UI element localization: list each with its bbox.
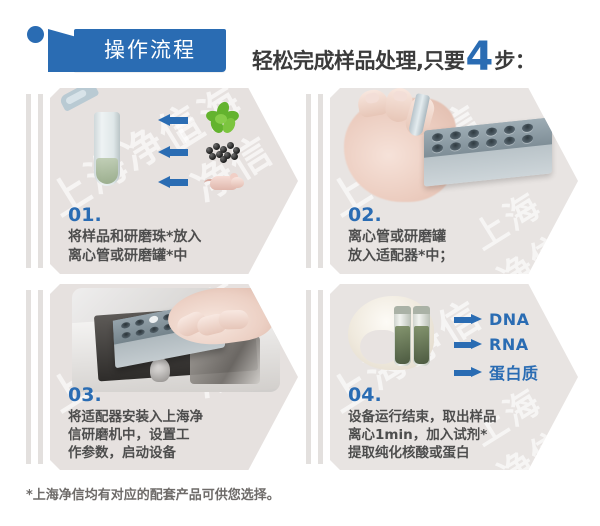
- left-arrow-icon: [158, 176, 188, 188]
- centrifuge-tube-illustration: [58, 94, 288, 202]
- step-description-line: 离心管或研磨罐: [348, 228, 563, 247]
- step-description-line: 将适配器安装入上海净: [68, 408, 283, 426]
- card-stripe-outer: [306, 94, 311, 268]
- output-row-dna: DNA: [454, 310, 530, 329]
- step-description-line: 离心管或研磨罐*中: [68, 247, 283, 266]
- footer-note: *上海净信均有对应的配套产品可供您选择。: [26, 484, 280, 503]
- headline-step-count: 4: [464, 40, 494, 74]
- card-stripe-inner: [38, 94, 43, 268]
- card-text-block: 04. 设备运行结束，取出样品 离心1min，加入试剂* 提取纯化核酸或蛋白: [348, 385, 563, 462]
- right-arrow-icon: [454, 367, 482, 378]
- step-number: 01.: [68, 205, 283, 226]
- card-stripe-inner: [318, 290, 323, 464]
- output-label: RNA: [489, 335, 529, 354]
- output-row-protein: 蛋白质: [454, 360, 539, 384]
- card-panel: 上海净信 上海净信: [50, 284, 298, 470]
- card-stripe-outer: [26, 94, 31, 268]
- card-stripe-outer: [26, 290, 31, 464]
- step-description-line: 信研磨机中，设置工: [68, 426, 283, 444]
- output-row-rna: RNA: [454, 335, 529, 354]
- step-card-3: 上海净信 上海净信: [26, 284, 298, 470]
- step-number: 04.: [348, 385, 563, 406]
- mouse-animal-icon: [204, 170, 246, 192]
- card-stripe-inner: [38, 290, 43, 464]
- grinding-beads-icon: [204, 140, 244, 162]
- machine-shaft: [150, 358, 170, 382]
- step-description-line: 离心1min，加入试剂*: [348, 426, 563, 444]
- step-description-line: 提取纯化核酸或蛋白: [348, 444, 563, 462]
- card-panel: 上海净信 上海净信 DNA RNA: [330, 284, 578, 470]
- step-number: 02.: [348, 205, 563, 226]
- plant-leaf-icon: [206, 104, 240, 134]
- step-description-line: 作参数，启动设备: [68, 444, 283, 462]
- sample-vial-icon: [413, 306, 430, 366]
- step-number: 03.: [68, 385, 283, 406]
- step-card-4: 上海净信 上海净信 DNA RNA: [306, 284, 578, 470]
- card-stripe-inner: [318, 94, 323, 268]
- left-arrow-icon: [158, 114, 188, 126]
- steps-grid: 上海净信 上海净信: [0, 86, 600, 476]
- card-panel: 上海净信 上海净信: [50, 88, 298, 274]
- grinder-machine-illustration: [72, 288, 280, 392]
- sample-vial-icon: [394, 306, 411, 366]
- card-text-block: 01. 将样品和研磨珠*放入 离心管或研磨罐*中: [68, 205, 283, 266]
- card-text-block: 03. 将适配器安装入上海净 信研磨机中，设置工 作参数，启动设备: [68, 385, 283, 462]
- right-arrow-icon: [454, 339, 482, 350]
- tube-cap-icon: [58, 88, 99, 112]
- right-arrow-icon: [454, 314, 482, 325]
- card-panel: 上海净信 上海净信: [330, 88, 578, 274]
- tube-liquid: [96, 158, 118, 184]
- card-stripe-outer: [306, 290, 311, 464]
- step-description-line: 将样品和研磨珠*放入: [68, 228, 283, 247]
- section-title: 操作流程: [74, 29, 226, 72]
- output-label: DNA: [489, 310, 530, 329]
- step-description-line: 设备运行结束，取出样品: [348, 408, 563, 426]
- headline-text-after: 步：: [494, 48, 535, 74]
- step-card-1: 上海净信 上海净信: [26, 88, 298, 274]
- hand-adapter-illustration: [340, 90, 570, 208]
- adapter-block-icon: [424, 117, 552, 186]
- headline-text-before: 轻松完成样品处理,只要: [252, 48, 464, 74]
- tube-icon: [94, 112, 120, 186]
- step-card-2: 上海净信 上海净信: [306, 88, 578, 274]
- left-arrow-icon: [158, 146, 188, 158]
- headline: 轻松完成样品处理,只要 4 步：: [252, 30, 535, 74]
- page-header: 操作流程 轻松完成样品处理,只要 4 步：: [0, 0, 600, 86]
- bullet-dot-icon: [27, 26, 44, 43]
- section-ribbon: 操作流程: [74, 29, 226, 72]
- output-label: 蛋白质: [489, 360, 539, 384]
- step-description-line: 放入适配器*中；: [348, 247, 563, 266]
- card-text-block: 02. 离心管或研磨罐 放入适配器*中；: [348, 205, 563, 266]
